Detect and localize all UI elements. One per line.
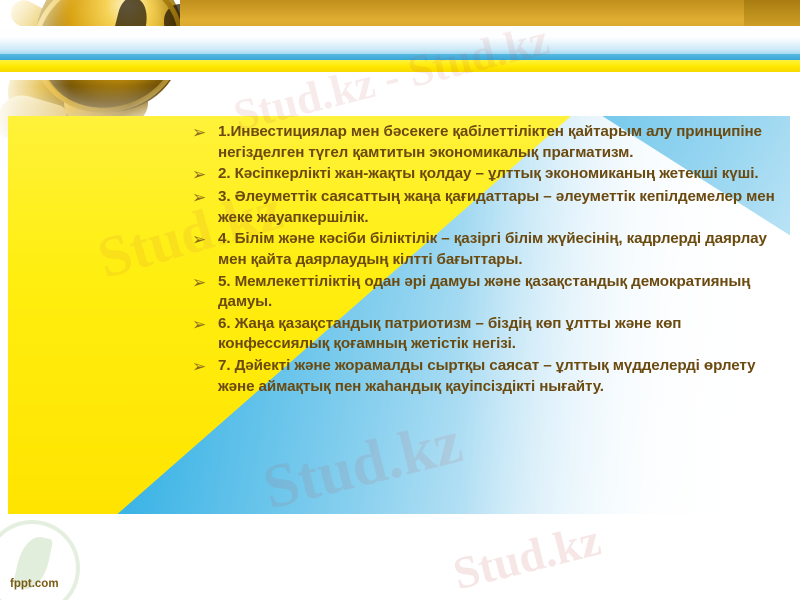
bullet-list: ➢ 1.Инвестициялар мен бәсекеге қабілетті…	[192, 122, 784, 398]
list-item: ➢ 1.Инвестициялар мен бәсекеге қабілетті…	[192, 122, 784, 163]
list-item: ➢ 7. Дәйекті және жорамалды сыртқы саяса…	[192, 356, 784, 397]
header-stripe-white-lower	[0, 72, 800, 80]
list-item-text: 7. Дәйекті және жорамалды сыртқы саясат …	[218, 356, 784, 397]
list-item-text: 6. Жаңа қазақстандық патриотизм – біздің…	[218, 314, 784, 355]
bullet-arrow-icon: ➢	[192, 356, 218, 378]
bullet-arrow-icon: ➢	[192, 272, 218, 294]
list-item: ➢ 6. Жаңа қазақстандық патриотизм – бізд…	[192, 314, 784, 355]
header-stripe-yellow	[0, 60, 800, 72]
bullet-arrow-icon: ➢	[192, 314, 218, 336]
presentation-slide: Қазақстан 2050 – жолы Stud.kz - Stud.kz …	[0, 0, 800, 600]
list-item: ➢ 2. Кәсіпкерлікті жан-жақты қолдау – ұл…	[192, 164, 784, 186]
list-item: ➢ 3. Әлеуметтік саясаттың жаңа қағидатта…	[192, 187, 784, 228]
watermark: Stud.kz	[448, 513, 606, 600]
footer-brand-label: fppt.com	[10, 578, 59, 590]
list-item-text: 4. Білім және кәсіби біліктілік – қазірг…	[218, 229, 784, 270]
list-item-text: 1.Инвестициялар мен бәсекеге қабілеттілі…	[218, 122, 784, 163]
list-item-text: 3. Әлеуметтік саясаттың жаңа қағидаттары…	[218, 187, 784, 228]
list-item-text: 5. Мемлекеттіліктің одан әрі дамуы және …	[218, 272, 784, 313]
list-item-text: 2. Кәсіпкерлікті жан-жақты қолдау – ұлтт…	[218, 164, 784, 185]
bullet-arrow-icon: ➢	[192, 229, 218, 251]
bullet-arrow-icon: ➢	[192, 122, 218, 144]
bullet-arrow-icon: ➢	[192, 164, 218, 186]
list-item: ➢ 4. Білім және кәсіби біліктілік – қазі…	[192, 229, 784, 270]
bullet-arrow-icon: ➢	[192, 187, 218, 209]
list-item: ➢ 5. Мемлекеттіліктің одан әрі дамуы жән…	[192, 272, 784, 313]
